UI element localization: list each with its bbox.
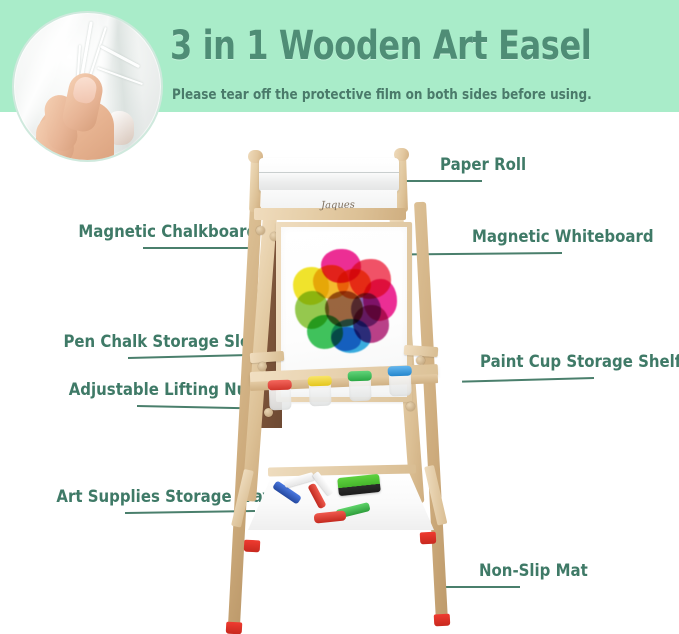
lifting-nut-leg-right: [406, 402, 415, 411]
paint-cup-yellow: [307, 374, 332, 405]
paint-splash-artwork: [291, 249, 399, 359]
protective-film-inset-photo: [12, 11, 163, 162]
label-magnetic-whiteboard: Magnetic Whiteboard: [472, 227, 657, 247]
paper-roll: [259, 158, 399, 192]
wooden-art-easel: Jaques: [228, 140, 460, 634]
label-non-slip-mat: Non-Slip Mat: [479, 561, 637, 581]
paint-cup-green: [347, 369, 372, 400]
leader-paint-cup-storage-shelf: [462, 377, 594, 383]
paint-cup-red: [267, 378, 292, 409]
lifting-nut-lower-left: [258, 362, 267, 371]
non-slip-foot-back-right: [420, 532, 437, 545]
brand-logo: Jaques: [316, 200, 360, 215]
label-magnetic-chalkboard: Magnetic Chalkboard: [78, 222, 250, 242]
non-slip-foot-front-right: [434, 614, 451, 627]
label-paint-cup-storage-shelf: Paint Cup Storage Shelf: [480, 352, 656, 372]
lifting-nut-upper-left: [256, 226, 265, 235]
non-slip-foot-back-left: [244, 540, 261, 553]
page-title: 3 in 1 Wooden Art Easel: [170, 22, 570, 70]
paint-cup-blue: [387, 364, 412, 395]
non-slip-foot-front-left: [226, 622, 243, 634]
header-subtitle: Please tear off the protective film on b…: [172, 86, 602, 104]
label-adjustable-lifting-nuts: Adjustable Lifting Nuts: [69, 380, 250, 400]
label-pen-chalk-storage-slot: Pen Chalk Storage Slot: [63, 332, 250, 352]
hand-graphic: [36, 73, 132, 162]
infographic-canvas: 3 in 1 Wooden Art Easel Please tear off …: [0, 0, 679, 634]
label-art-supplies-storage-tray: Art Supplies Storage Tray: [56, 487, 250, 507]
label-paper-roll: Paper Roll: [440, 155, 616, 175]
easel-leg-back-right: [414, 202, 448, 626]
